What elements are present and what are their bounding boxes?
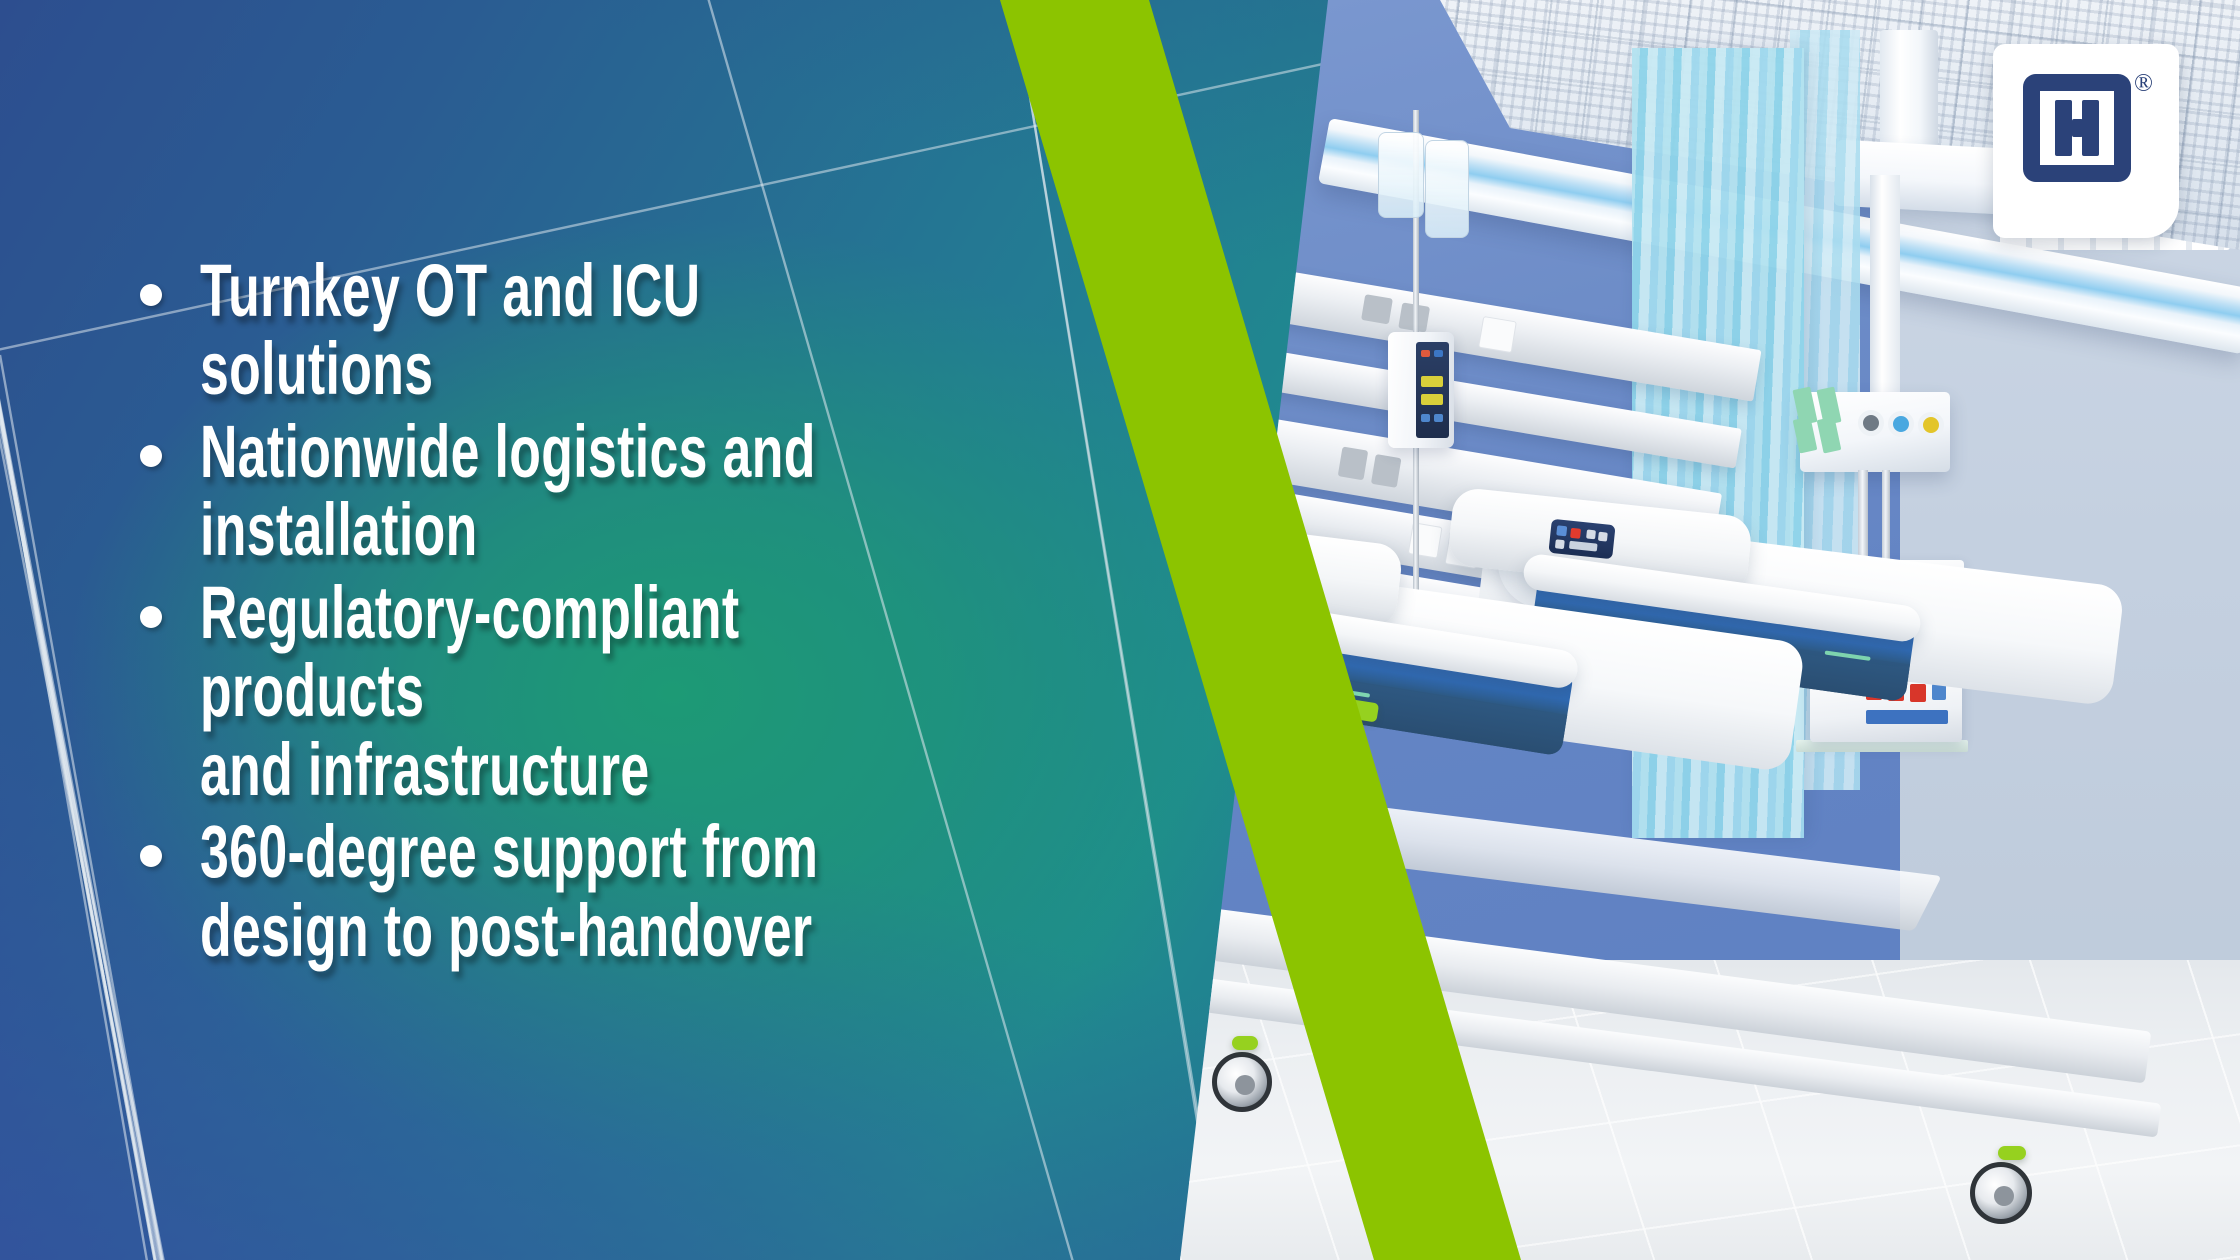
device-button	[1932, 684, 1946, 700]
caster-right	[1970, 1162, 2032, 1224]
bullet-item-label: Nationwide logistics and installation	[200, 413, 872, 570]
bullet-item-label: 360-degree support from design to post-h…	[200, 813, 872, 970]
panel-button-emergency	[1570, 528, 1581, 539]
bullet-dot-icon	[140, 845, 162, 867]
wall-plate	[1478, 316, 1517, 353]
slide-canvas: Turnkey OT and ICU solutions Nationwide …	[0, 0, 2240, 1260]
pendant-gas-outlet	[1858, 410, 1884, 436]
pump-indicator	[1434, 350, 1443, 357]
logo-card[interactable]: ®	[1993, 44, 2179, 238]
caster-hub	[1235, 1075, 1255, 1095]
bullet-item-label: Regulatory-compliant products and infras…	[200, 574, 872, 809]
panel-indicator	[1569, 541, 1598, 552]
company-logo-icon	[2023, 74, 2131, 182]
panel-button	[1556, 525, 1567, 536]
panel-button	[1555, 539, 1565, 549]
list-item: Turnkey OT and ICU solutions	[140, 252, 1160, 409]
device-indicator	[1910, 684, 1926, 702]
feature-bullet-list: Turnkey OT and ICU solutions Nationwide …	[140, 252, 1160, 974]
pendant-gas-outlet	[1888, 411, 1914, 437]
bullet-dot-icon	[140, 445, 162, 467]
panel-button	[1598, 532, 1608, 542]
list-item: 360-degree support from design to post-h…	[140, 813, 1160, 970]
wall-switch	[1371, 454, 1402, 488]
bullet-dot-icon	[140, 284, 162, 306]
caster-hub	[1994, 1186, 2014, 1206]
bed-control-panel-rear	[1548, 519, 1615, 560]
bullet-item-label: Turnkey OT and ICU solutions	[200, 252, 872, 409]
registered-trademark-symbol: ®	[2134, 71, 2153, 96]
iv-bag-saline	[1378, 132, 1424, 218]
infusion-pump-screen	[1416, 342, 1449, 438]
wall-switch	[1338, 446, 1369, 480]
device-strip	[1866, 710, 1948, 724]
logo-bar-right	[2082, 100, 2099, 156]
caster-brake-pedal-right	[1998, 1146, 2026, 1160]
pump-display	[1421, 394, 1443, 405]
pump-indicator	[1421, 350, 1430, 357]
list-item: Nationwide logistics and installation	[140, 413, 1160, 570]
pendant-gas-outlet	[1918, 412, 1944, 438]
caster-left	[1212, 1052, 1272, 1112]
pump-display	[1421, 376, 1443, 387]
bullet-dot-icon	[140, 606, 162, 628]
pump-button	[1434, 414, 1443, 422]
wall-switch	[1361, 294, 1393, 324]
panel-button	[1586, 529, 1596, 539]
logo-bar-middle	[2072, 119, 2083, 137]
iv-bag-injection	[1425, 140, 1469, 238]
caster-brake-pedal-left	[1232, 1036, 1258, 1050]
list-item: Regulatory-compliant products and infras…	[140, 574, 1160, 809]
pump-button	[1421, 414, 1430, 422]
logo-bar-left	[2055, 100, 2072, 156]
